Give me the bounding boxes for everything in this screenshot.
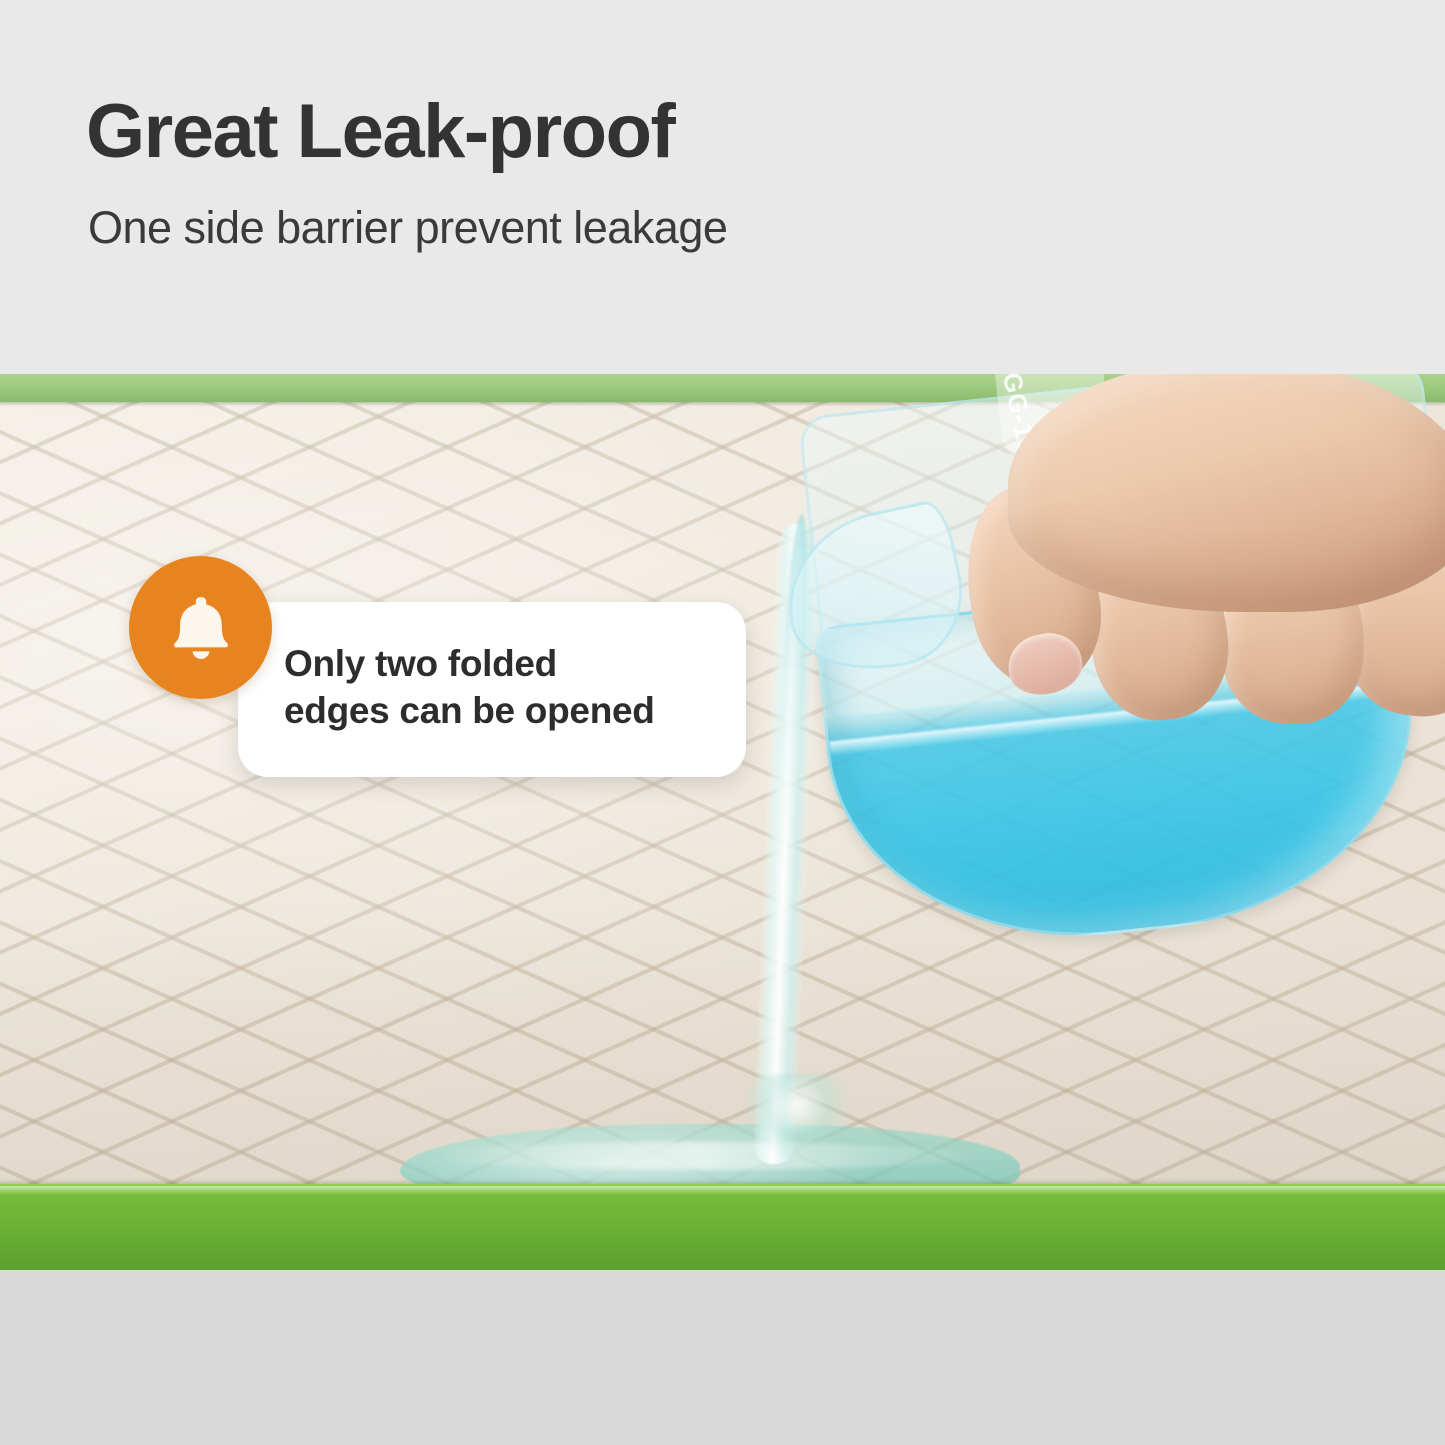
page-subtitle: One side barrier prevent leakage xyxy=(88,203,727,253)
photo-bottom-edge xyxy=(0,1270,1445,1286)
beaker-and-hand: 500ml GG-17 500 APPROX 300 200 100 xyxy=(800,374,1445,1044)
hand xyxy=(950,374,1445,694)
puddle-sheen xyxy=(430,1142,970,1170)
hand-back xyxy=(1008,374,1445,612)
callout-text: Only two folded edges can be opened xyxy=(284,640,655,735)
green-leak-barrier xyxy=(0,1184,1445,1272)
product-feature-image: Great Leak-proof One side barrier preven… xyxy=(0,0,1445,1445)
bell-icon xyxy=(168,593,234,663)
callout-card: Only two folded edges can be opened xyxy=(238,602,746,777)
callout-badge xyxy=(129,556,272,699)
header-band: Great Leak-proof One side barrier preven… xyxy=(0,0,1445,374)
stream-splash xyxy=(742,1074,852,1164)
footer-band xyxy=(0,1286,1445,1445)
product-photo: 500ml GG-17 500 APPROX 300 200 100 xyxy=(0,374,1445,1286)
page-title: Great Leak-proof xyxy=(86,92,674,172)
